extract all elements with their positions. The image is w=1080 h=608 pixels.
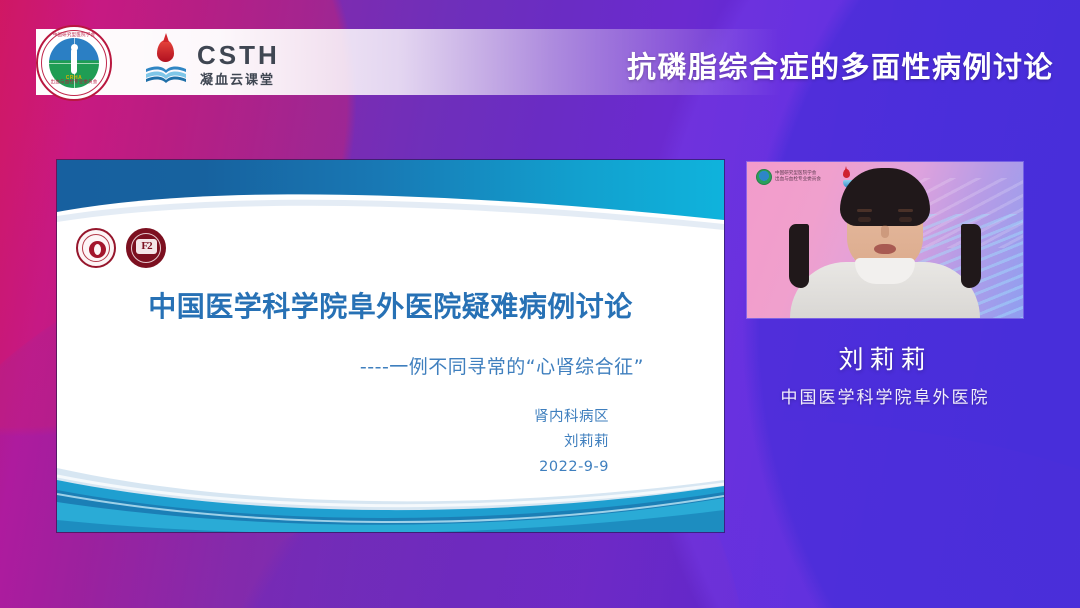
speaker-brow-right — [898, 209, 913, 212]
video-bg-blood-drop-icon — [843, 169, 850, 178]
slide-seals: F2 — [74, 228, 189, 270]
video-bg-crha-icon — [756, 169, 772, 185]
crha-globe-icon: CRHA — [49, 38, 99, 88]
csth-logo: CSTH 凝血云课堂 — [145, 40, 295, 90]
speaker-organization: 中国医学科学院阜外医院 — [747, 383, 1023, 408]
slide-footer-date: 2022-9-9 — [57, 455, 609, 480]
slide-subtitle: ----一例不同寻常的“心肾综合征” — [57, 352, 644, 379]
slide-footer-presenter: 刘莉莉 — [57, 430, 609, 455]
slide-title: 中国医学科学院阜外医院疑难病例讨论 — [57, 285, 724, 325]
fuwai-seal-mark: F2 — [136, 239, 157, 254]
speaker-nose — [881, 225, 889, 238]
session-title: 抗磷脂综合症的多面性病例讨论 — [627, 44, 1054, 86]
crha-figure-body — [71, 48, 77, 74]
video-bg-crha-line2: 出血与血栓专业委员会 — [775, 177, 821, 183]
hospital-seal-icon — [76, 228, 116, 268]
presentation-slide: F2 中国医学科学院阜外医院疑难病例讨论 ----一例不同寻常的“心肾综合征” … — [57, 160, 724, 532]
speaker-hair-right — [961, 224, 981, 288]
crha-emblem-icon: 中国研究型医院学会 CRHA 出血与血栓专业委员会 — [36, 25, 112, 101]
crha-abbr: CRHA — [49, 75, 99, 81]
presentation-stage: 中国研究型医院学会 CRHA 出血与血栓专业委员会 CSTH 凝血云课堂 抗磷脂… — [0, 0, 1080, 608]
open-book-icon — [145, 64, 187, 84]
csth-brand-sub: 凝血云课堂 — [200, 69, 275, 88]
slide-footer-block: 肾内科病区 刘莉莉 2022-9-9 — [57, 405, 609, 480]
speaker-eye-right — [899, 217, 912, 222]
speaker-collar — [855, 258, 915, 284]
video-bg-crha-logo: 中国研究型医院学会 出血与血栓专业委员会 — [756, 169, 821, 185]
slide-footer-department: 肾内科病区 — [57, 405, 609, 430]
crha-bottom-text: 出血与血栓专业委员会 — [44, 79, 104, 95]
speaker-name: 刘莉莉 — [747, 340, 1023, 376]
speaker-video-feed[interactable]: 中国研究型医院学会 出血与血栓专业委员会 CSTH 凝血云课堂 — [747, 162, 1023, 318]
speaker-brow-left — [857, 209, 872, 212]
csth-brand-name: CSTH — [197, 40, 280, 71]
blood-drop-icon — [157, 40, 174, 62]
speaker-mouth — [874, 244, 896, 254]
speaker-avatar — [790, 198, 980, 318]
slide-top-band — [57, 160, 724, 238]
speaker-eye-left — [858, 217, 871, 222]
speaker-hair-left — [789, 224, 809, 288]
fuwai-seal-icon: F2 — [126, 228, 166, 268]
